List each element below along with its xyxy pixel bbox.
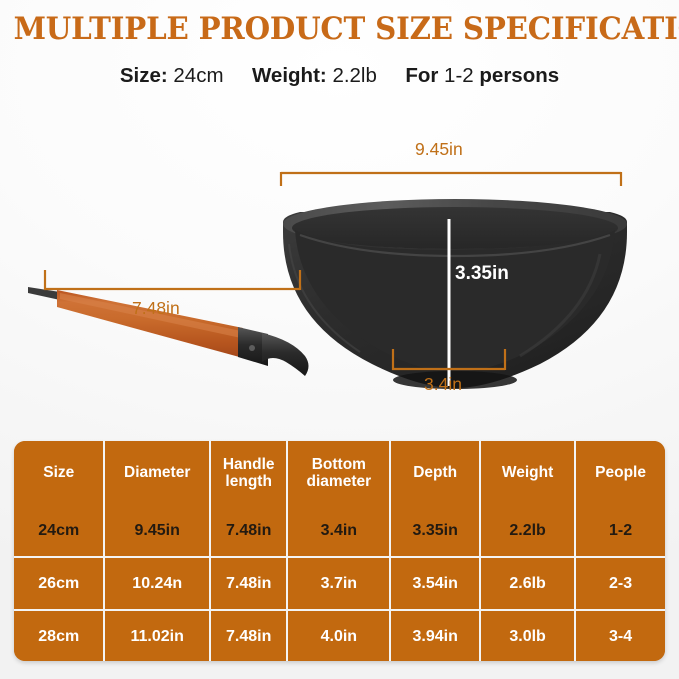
header-line-1: Handle — [223, 456, 275, 473]
wok-diagram-svg — [0, 104, 679, 420]
cell-handle-length: 7.48in — [210, 557, 287, 610]
header-line-1: Depth — [413, 464, 457, 481]
cell-diameter: 10.24n — [104, 557, 209, 610]
dimension-label-diameter: 9.45in — [415, 139, 463, 160]
dimension-bracket-handle — [44, 270, 300, 290]
cell-size: 24cm — [14, 505, 104, 557]
wok-inner-cavity — [295, 230, 615, 372]
header-line-2: diameter — [307, 473, 372, 490]
table-header-row: Size Diameter Handle length Bottom diame… — [14, 441, 665, 505]
wok-rim-inner — [292, 207, 618, 249]
column-header-depth: Depth — [390, 441, 480, 505]
dimension-bracket-top — [281, 172, 621, 186]
header-line-1: Weight — [502, 464, 553, 481]
table-header: Size Diameter Handle length Bottom diame… — [14, 441, 665, 505]
product-spec-page: MULTIPLE PRODUCT SIZE SPECIFICATIONS Siz… — [0, 0, 679, 679]
specifications-table-container: Size Diameter Handle length Bottom diame… — [14, 441, 665, 661]
cell-bottom-diameter: 4.0in — [287, 610, 390, 661]
cell-weight: 2.2lb — [480, 505, 575, 557]
persons-label: persons — [479, 64, 559, 87]
cell-bottom-diameter: 3.7in — [287, 557, 390, 610]
product-illustration — [0, 104, 679, 420]
size-value: 24cm — [173, 64, 223, 87]
header-line-1: Bottom — [312, 456, 366, 473]
cell-weight: 2.6lb — [480, 557, 575, 610]
column-header-weight: Weight — [480, 441, 575, 505]
cell-diameter: 9.45in — [104, 505, 209, 557]
handle-rivet — [249, 345, 255, 351]
cell-bottom-diameter: 3.4in — [287, 505, 390, 557]
cell-people: 1-2 — [575, 505, 665, 557]
table-body: 24cm 9.45in 7.48in 3.4in 3.35in 2.2lb 1-… — [14, 505, 665, 661]
header-line-2: length — [225, 473, 272, 490]
table-row: 26cm 10.24n 7.48in 3.7in 3.54in 2.6lb 2-… — [14, 557, 665, 610]
cell-weight: 3.0lb — [480, 610, 575, 661]
cell-size: 26cm — [14, 557, 104, 610]
column-header-diameter: Diameter — [104, 441, 209, 505]
header-line-1: Diameter — [124, 464, 190, 481]
column-header-handle-length: Handle length — [210, 441, 287, 505]
column-header-people: People — [575, 441, 665, 505]
page-title: MULTIPLE PRODUCT SIZE SPECIFICATIONS — [14, 11, 666, 47]
cell-depth: 3.94in — [390, 610, 480, 661]
subtitle-summary: Size: 24cm Weight: 2.2lb For 1-2 persons — [0, 64, 679, 88]
header-line-1: People — [595, 464, 646, 481]
cell-diameter: 11.02in — [104, 610, 209, 661]
cell-size: 28cm — [14, 610, 104, 661]
size-label: Size: — [120, 64, 168, 87]
cell-depth: 3.54in — [390, 557, 480, 610]
cell-depth: 3.35in — [390, 505, 480, 557]
cell-people: 3-4 — [575, 610, 665, 661]
for-label: For — [405, 64, 438, 87]
dimension-label-bottom-diameter: 3.4in — [424, 374, 462, 395]
table-row: 24cm 9.45in 7.48in 3.4in 3.35in 2.2lb 1-… — [14, 505, 665, 557]
persons-value: 1-2 — [444, 64, 474, 87]
dimension-label-depth: 3.35in — [455, 263, 509, 285]
wok-body — [283, 199, 627, 389]
header-line-1: Size — [43, 464, 74, 481]
handle-bracket — [262, 333, 309, 376]
specifications-table: Size Diameter Handle length Bottom diame… — [14, 441, 665, 661]
cell-handle-length: 7.48in — [210, 610, 287, 661]
column-header-bottom-diameter: Bottom diameter — [287, 441, 390, 505]
table-row: 28cm 11.02in 7.48in 4.0in 3.94in 3.0lb 3… — [14, 610, 665, 661]
weight-value: 2.2lb — [332, 64, 376, 87]
cell-handle-length: 7.48in — [210, 505, 287, 557]
dimension-label-handle-length: 7.48in — [132, 298, 180, 319]
column-header-size: Size — [14, 441, 104, 505]
cell-people: 2-3 — [575, 557, 665, 610]
weight-label: Weight: — [252, 64, 327, 87]
